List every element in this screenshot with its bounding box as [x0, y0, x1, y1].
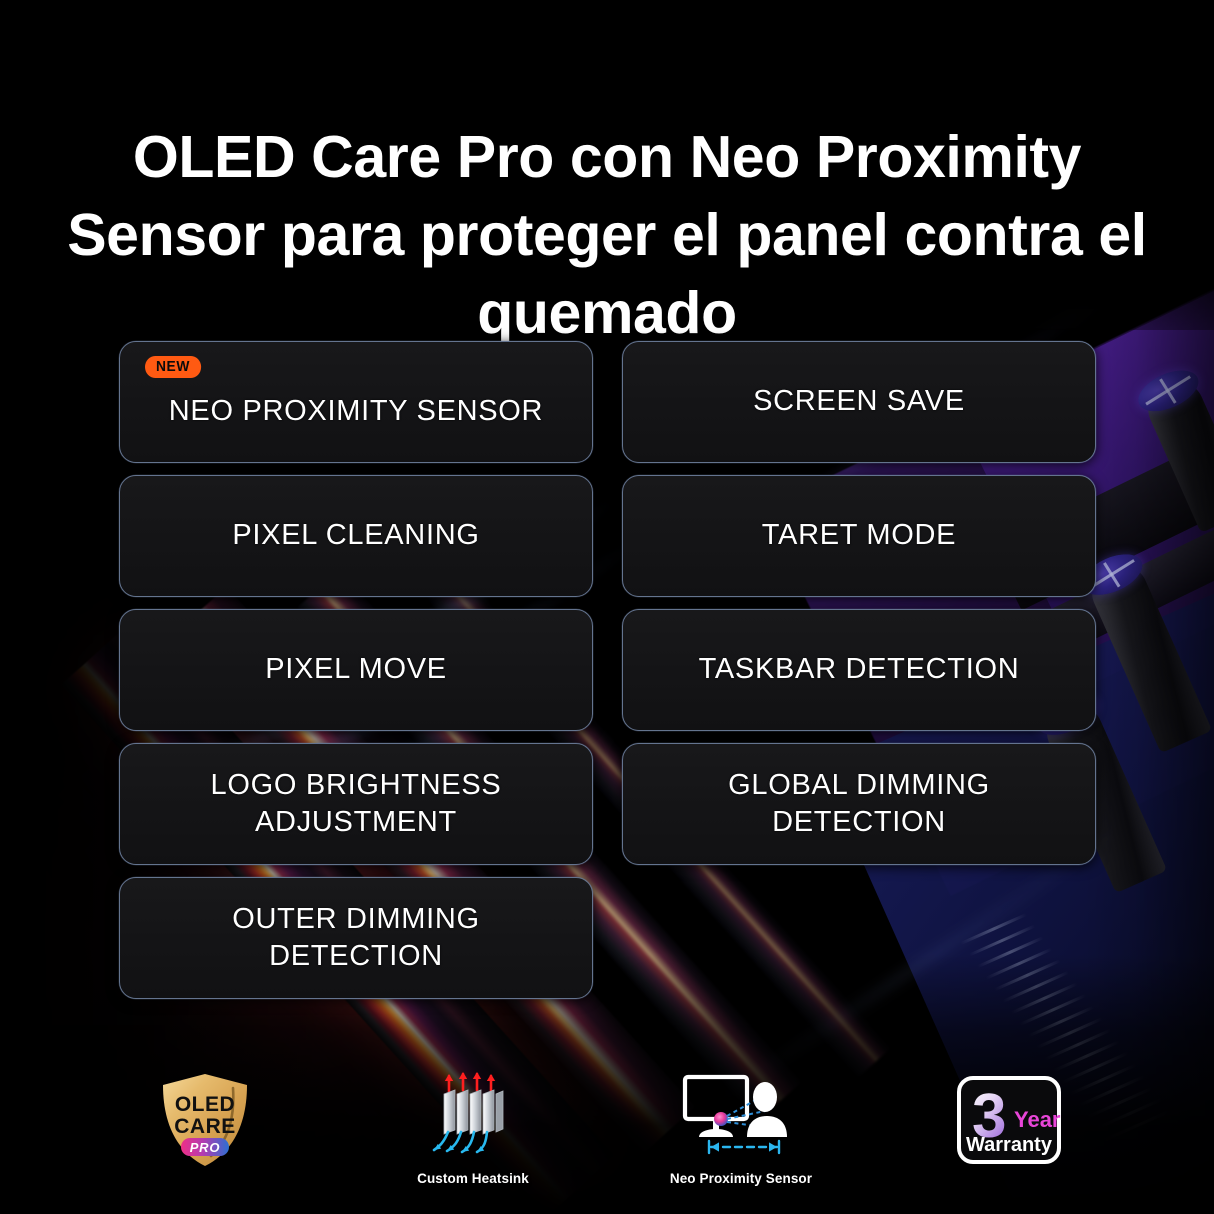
badge-custom-heatsink: Custom Heatsink [398, 1068, 548, 1186]
feature-column-left: NEW NEO PROXIMITY SENSOR PIXEL CLEANING … [119, 341, 593, 999]
new-badge: NEW [145, 356, 201, 378]
feature-card-label: GLOBAL DIMMING DETECTION [728, 767, 990, 841]
feature-card-global-dimming-detection[interactable]: GLOBAL DIMMING DETECTION [622, 743, 1096, 865]
feature-card-taret-mode[interactable]: TARET MODE [622, 475, 1096, 597]
badge-caption: Neo Proximity Sensor [670, 1171, 812, 1186]
oled-care-pro-shield-icon: OLED CARE PRO [159, 1072, 251, 1168]
feature-card-label: NEO PROXIMITY SENSOR [169, 393, 543, 430]
feature-card-outer-dimming-detection[interactable]: OUTER DIMMING DETECTION [119, 877, 593, 999]
feature-card-logo-brightness-adjustment[interactable]: LOGO BRIGHTNESS ADJUSTMENT [119, 743, 593, 865]
feature-card-pixel-move[interactable]: PIXEL MOVE [119, 609, 593, 731]
feature-grid: NEW NEO PROXIMITY SENSOR PIXEL CLEANING … [119, 341, 1096, 999]
badge-strip: OLED CARE PRO [0, 1056, 1214, 1186]
feature-card-screen-save[interactable]: SCREEN SAVE [622, 341, 1096, 463]
three-year-warranty-icon: 3 Year Warranty [956, 1072, 1062, 1168]
svg-text:PRO: PRO [190, 1140, 221, 1155]
page-title: OLED Care Pro con Neo Proximity Sensor p… [0, 118, 1214, 353]
feature-card-taskbar-detection[interactable]: TASKBAR DETECTION [622, 609, 1096, 731]
badge-neo-proximity-sensor: Neo Proximity Sensor [666, 1068, 816, 1186]
promo-banner: OLED Care Pro con Neo Proximity Sensor p… [0, 0, 1214, 1214]
custom-heatsink-icon [424, 1068, 522, 1164]
badge-caption: Custom Heatsink [417, 1171, 529, 1186]
svg-text:OLED: OLED [175, 1093, 235, 1116]
feature-card-neo-proximity-sensor[interactable]: NEW NEO PROXIMITY SENSOR [119, 341, 593, 463]
svg-text:CARE: CARE [174, 1115, 236, 1138]
svg-text:Warranty: Warranty [966, 1134, 1053, 1156]
feature-card-label: TARET MODE [762, 517, 956, 554]
svg-text:Year: Year [1014, 1107, 1061, 1132]
feature-card-label: PIXEL MOVE [265, 651, 447, 688]
feature-card-pixel-cleaning[interactable]: PIXEL CLEANING [119, 475, 593, 597]
feature-card-label: LOGO BRIGHTNESS ADJUSTMENT [211, 767, 502, 841]
feature-card-label: SCREEN SAVE [753, 383, 965, 420]
feature-card-label: TASKBAR DETECTION [699, 651, 1020, 688]
feature-card-label: OUTER DIMMING DETECTION [232, 901, 480, 975]
badge-oled-care-pro: OLED CARE PRO [130, 1072, 280, 1186]
feature-column-right: SCREEN SAVE TARET MODE TASKBAR DETECTION… [622, 341, 1096, 999]
feature-card-label: PIXEL CLEANING [232, 517, 479, 554]
neo-proximity-sensor-icon [677, 1068, 805, 1164]
badge-three-year-warranty: 3 Year Warranty [934, 1072, 1084, 1186]
